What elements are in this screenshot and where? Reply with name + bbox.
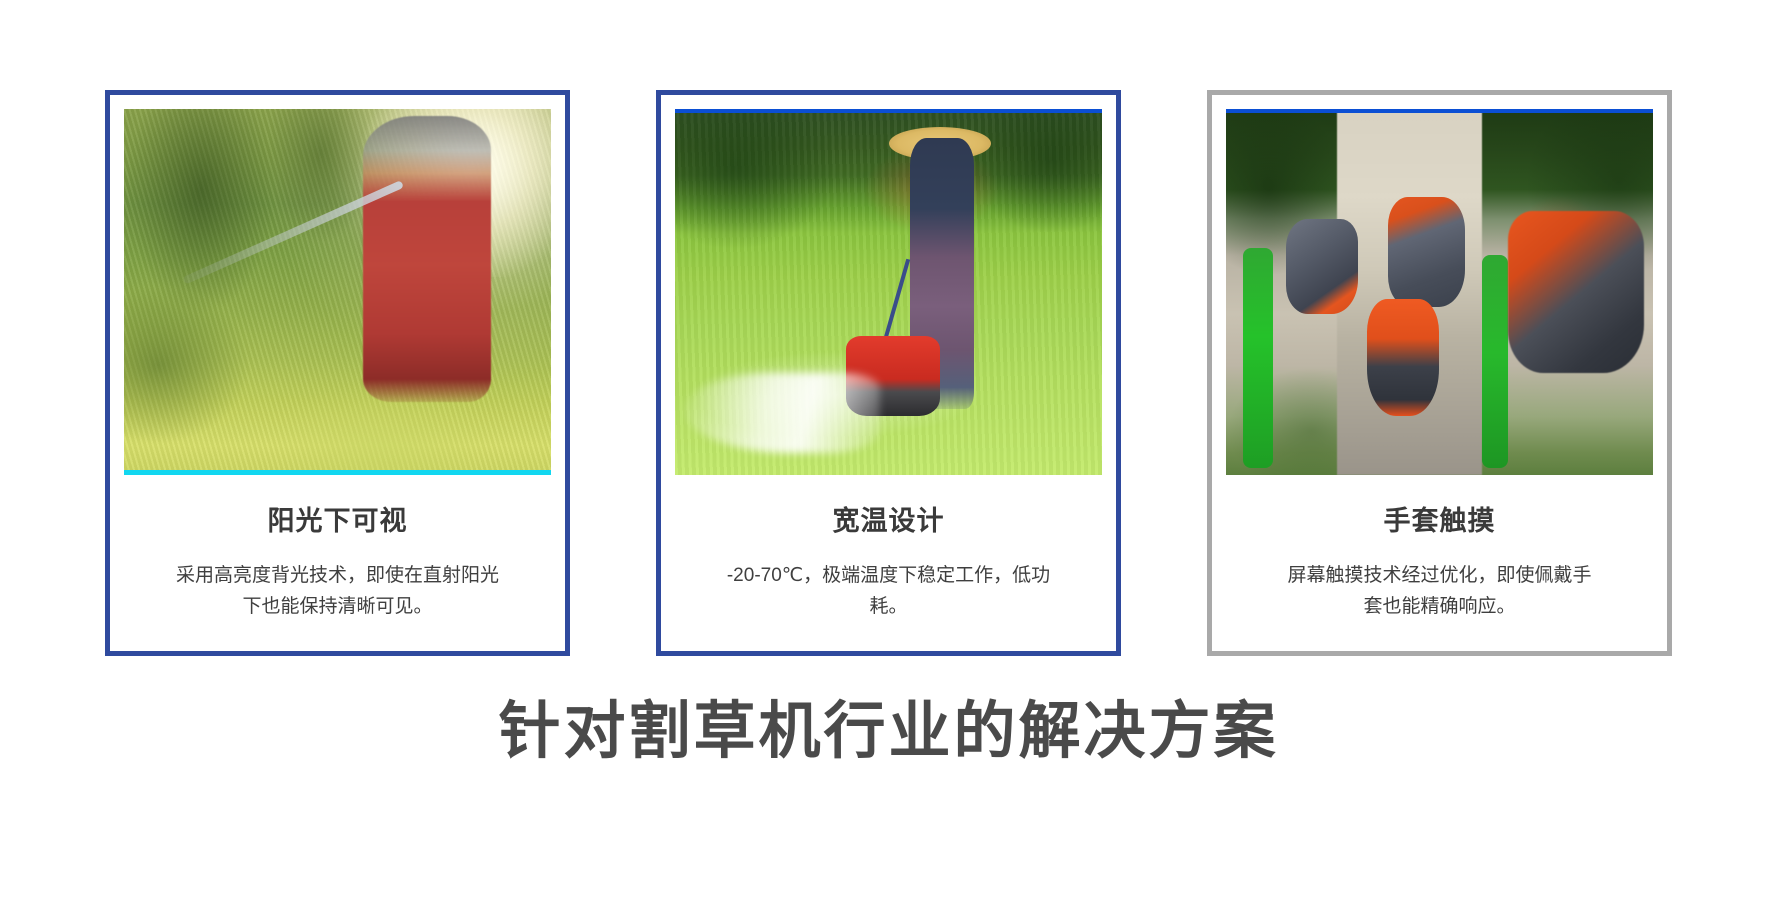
ear-protection <box>1367 299 1440 416</box>
card-title: 宽温设计 <box>687 505 1090 537</box>
page-headline: 针对割草机行业的解决方案 <box>0 690 1777 774</box>
water-spray <box>684 373 880 454</box>
card-body-glove-touch: 手套触摸 屏幕触摸技术经过优化，即使佩戴手套也能精确响应。 <box>1212 475 1667 623</box>
card-title: 阳光下可视 <box>136 505 539 537</box>
card-body-wide-temperature: 宽温设计 -20-70℃，极端温度下稳定工作，低功耗。 <box>661 475 1116 623</box>
mower-bar-left <box>1243 248 1273 468</box>
sun-glow-icon <box>346 109 551 277</box>
card-media-sunlight <box>110 95 565 475</box>
photo-mower-on-lawn <box>675 109 1102 475</box>
photo-bottom-accent-line <box>124 470 551 475</box>
card-media-glove-touch <box>1212 95 1667 475</box>
card-description: -20-70℃，极端温度下稳定工作，低功耗。 <box>724 561 1054 623</box>
card-description: 屏幕触摸技术经过优化，即使佩戴手套也能精确响应。 <box>1280 561 1600 623</box>
feature-cards-row: 阳光下可视 采用高亮度背光技术，即使在直射阳光下也能保持清晰可见。 宽温设计 <box>105 90 1672 656</box>
photo-trimmer-in-sunlight <box>124 109 551 475</box>
glove-right-icon <box>1388 197 1465 307</box>
feature-card-sunlight[interactable]: 阳光下可视 采用高亮度背光技术，即使在直射阳光下也能保持清晰可见。 <box>105 90 570 656</box>
photo-gloved-hands-on-mower <box>1226 109 1653 475</box>
trimmer-shaft <box>182 180 404 285</box>
photo-top-accent-line <box>1226 109 1653 113</box>
mower-bar-right <box>1482 255 1508 467</box>
mower-body <box>1508 211 1645 372</box>
glove-left-icon <box>1286 219 1359 314</box>
photo-top-accent-line <box>675 109 1102 113</box>
operator-figure <box>363 116 491 401</box>
card-media-wide-temperature <box>661 95 1116 475</box>
feature-card-wide-temperature[interactable]: 宽温设计 -20-70℃，极端温度下稳定工作，低功耗。 <box>656 90 1121 656</box>
card-title: 手套触摸 <box>1238 505 1641 537</box>
card-description: 采用高亮度背光技术，即使在直射阳光下也能保持清晰可见。 <box>173 561 503 623</box>
page-root: 阳光下可视 采用高亮度背光技术，即使在直射阳光下也能保持清晰可见。 宽温设计 <box>0 0 1777 917</box>
card-body-sunlight: 阳光下可视 采用高亮度背光技术，即使在直射阳光下也能保持清晰可见。 <box>110 475 565 623</box>
feature-card-glove-touch[interactable]: 手套触摸 屏幕触摸技术经过优化，即使佩戴手套也能精确响应。 <box>1207 90 1672 656</box>
